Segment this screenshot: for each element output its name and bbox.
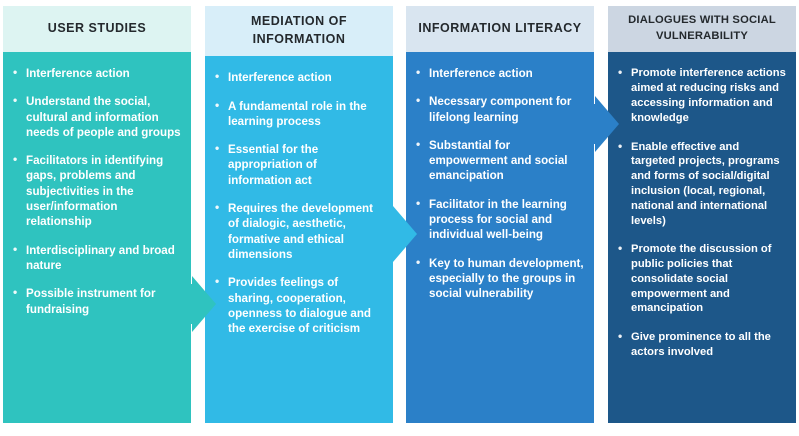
bullet-list-mediation-of-information: Interference action A fundamental role i… [213,70,383,336]
column-header-user-studies: USER STUDIES [3,6,191,52]
list-item: A fundamental role in the learning proce… [213,99,383,130]
column-information-literacy: INFORMATION LITERACY Interference action… [406,6,594,423]
column-header-dialogues-with-social-vulnerability: DIALOGUES WITH SOCIAL VULNERABILITY [608,6,796,52]
arrow-right-icon [369,206,417,262]
arrow-right-icon [168,276,216,332]
list-item: Provides feelings of sharing, cooperatio… [213,275,383,336]
diagram-canvas: USER STUDIES Interference action Underst… [0,0,799,436]
bullet-list-information-literacy: Interference action Necessary component … [414,66,584,302]
column-dialogues-with-social-vulnerability: DIALOGUES WITH SOCIAL VULNERABILITY Prom… [608,6,796,423]
column-mediation-of-information: MEDIATION OF INFORMATION Interference ac… [205,6,393,423]
arrow-right-icon [571,96,619,152]
list-item: Enable effective and targeted projects, … [616,140,786,229]
list-item: Key to human development, especially to … [414,256,584,302]
list-item: Promote the discussion of public policie… [616,242,786,316]
list-item: Necessary component for lifelong learnin… [414,94,584,125]
list-item: Give prominence to all the actors involv… [616,330,786,360]
list-item: Interdisciplinary and broad nature [11,243,181,274]
column-body-dialogues-with-social-vulnerability: Promote interference actions aimed at re… [608,52,796,423]
column-body-information-literacy: Interference action Necessary component … [406,52,594,423]
list-item: Essential for the appropriation of infor… [213,142,383,188]
list-item: Possible instrument for fundraising [11,286,181,317]
list-item: Interference action [213,70,383,85]
column-user-studies: USER STUDIES Interference action Underst… [3,6,191,423]
list-item: Facilitators in identifying gaps, proble… [11,153,181,229]
list-item: Interference action [11,66,181,81]
list-item: Substantial for empowerment and social e… [414,138,584,184]
list-item: Understand the social, cultural and info… [11,94,181,140]
column-header-information-literacy: INFORMATION LITERACY [406,6,594,52]
column-body-mediation-of-information: Interference action A fundamental role i… [205,56,393,423]
column-header-mediation-of-information: MEDIATION OF INFORMATION [205,6,393,56]
list-item: Facilitator in the learning process for … [414,197,584,243]
list-item: Requires the development of dialogic, ae… [213,201,383,262]
bullet-list-dialogues-with-social-vulnerability: Promote interference actions aimed at re… [616,66,786,359]
list-item: Interference action [414,66,584,81]
bullet-list-user-studies: Interference action Understand the socia… [11,66,181,317]
list-item: Promote interference actions aimed at re… [616,66,786,125]
column-body-user-studies: Interference action Understand the socia… [3,52,191,423]
